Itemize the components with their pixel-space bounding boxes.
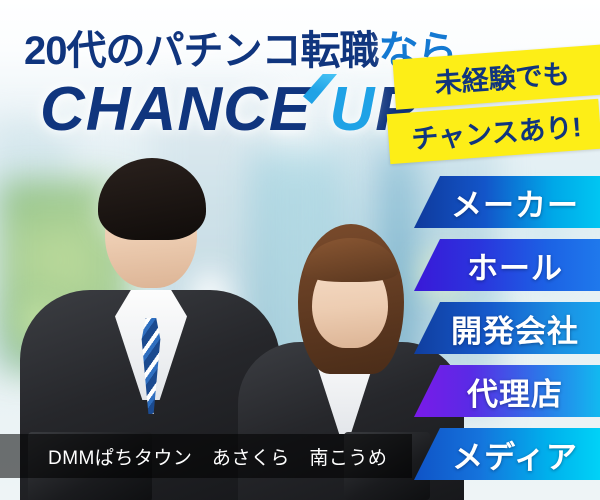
man-hair bbox=[98, 158, 206, 240]
advertisement-banner[interactable]: 20代のパチンコ転職なら CHANCE UP 未経験でも チャンスあり! メーカ… bbox=[0, 0, 600, 500]
category-label: メディア bbox=[452, 432, 578, 477]
caption-text: DMMぱちタウン あさくら 南こうめ bbox=[0, 443, 387, 470]
promo-badge: 未経験でも チャンスあり! bbox=[394, 52, 600, 152]
caption-bar: DMMぱちタウン あさくら 南こうめ bbox=[0, 434, 412, 478]
headline-main: 20代のパチンコ転職 bbox=[24, 29, 379, 73]
category-button-maker[interactable]: メーカー bbox=[414, 176, 600, 228]
brand-logo: CHANCE UP bbox=[40, 74, 418, 145]
category-label: ホール bbox=[467, 243, 563, 288]
category-button-development-company[interactable]: 開発会社 bbox=[414, 302, 600, 354]
category-button-agency[interactable]: 代理店 bbox=[414, 365, 600, 417]
logo-word-chance: CHANCE bbox=[40, 75, 311, 144]
category-button-hall[interactable]: ホール bbox=[414, 239, 600, 291]
category-button-media[interactable]: メディア bbox=[414, 428, 600, 480]
category-label: 開発会社 bbox=[451, 306, 579, 351]
category-label: メーカー bbox=[451, 180, 579, 225]
category-list: メーカー ホール 開発会社 代理店 メディア bbox=[414, 176, 600, 491]
category-label: 代理店 bbox=[467, 369, 563, 414]
page-title: 20代のパチンコ転職なら bbox=[24, 18, 457, 76]
logo-letter-u: U bbox=[329, 75, 375, 144]
